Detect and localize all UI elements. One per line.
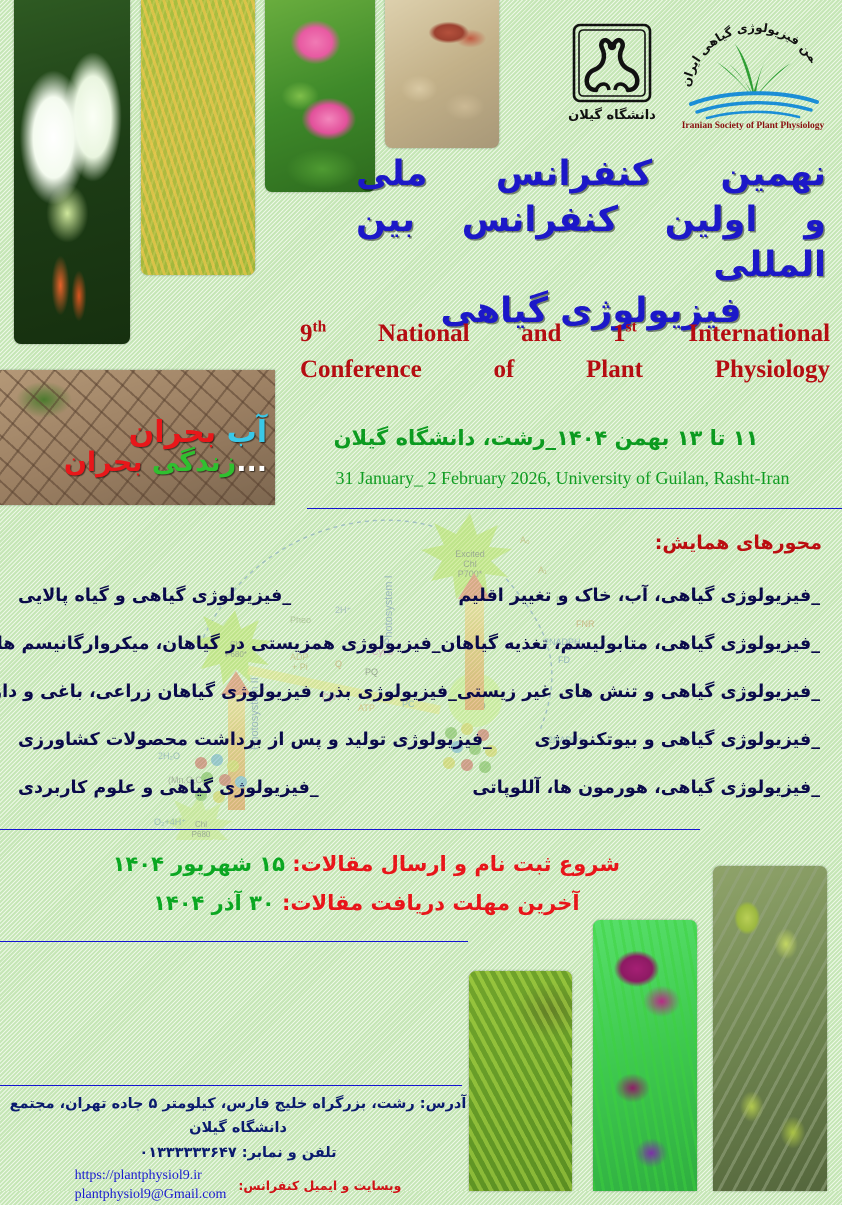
university-of-guilan-logo: دانشگاه گیلان <box>566 22 658 132</box>
divider-topics-bottom <box>0 829 700 830</box>
svg-text:A₁: A₁ <box>538 565 547 575</box>
svg-text:Excited: Excited <box>455 549 485 559</box>
title-en-sup-th: th <box>313 319 327 336</box>
deadline-submission-label: آخرین مهلت دریافت مقالات: <box>282 891 580 915</box>
title-fa-line2: و اولین کنفرانس بین المللی <box>356 198 826 289</box>
deadline-registration: شروع ثبت نام و ارسال مقالات: ۱۵ شهریور ۱… <box>113 845 620 884</box>
contact-email-link[interactable]: plantphysiol9@Gmail.com <box>75 1186 227 1205</box>
deadline-submission: آخرین مهلت دریافت مقالات: ۳۰ آذر ۱۴۰۴ <box>113 884 620 923</box>
svg-text:A₀: A₀ <box>520 535 530 545</box>
drought-line2-crisis: بحران <box>64 447 143 478</box>
topic-row: _فیزیولوژی گیاهی و بیوتکنولوژی _فیزیولوژ… <box>0 730 842 778</box>
svg-text:Iranian Society of Plant Physi: Iranian Society of Plant Physiology <box>682 121 825 130</box>
photo-rice <box>141 0 255 275</box>
topic-item: _فیزیولوژی تولید و پس از برداشت محصولات … <box>0 730 492 750</box>
deadlines-block: شروع ثبت نام و ارسال مقالات: ۱۵ شهریور ۱… <box>113 845 620 923</box>
topic-row: _فیزیولوژی گیاهی، متابولیسم، تغذیه گیاها… <box>0 634 842 682</box>
topic-item: _فیزیولوژی گیاهی و علوم کاربردی <box>0 778 319 798</box>
topic-row: _فیزیولوژی گیاهی و تنش های غیر زیستی _فی… <box>0 682 842 730</box>
svg-text:P680: P680 <box>192 830 211 839</box>
svg-text:دانشگاه گیلان: دانشگاه گیلان <box>568 107 656 123</box>
title-en-sup-st: st <box>626 319 637 336</box>
topic-item: _فیزیولوژی گیاهی و بیوتکنولوژی <box>534 730 842 750</box>
deadline-registration-label: شروع ثبت نام و ارسال مقالات: <box>292 852 620 876</box>
iranian-society-of-plant-physiology-logo: انجمن فیزیولوژی گیاهی ایران Iranian Soci… <box>673 22 833 130</box>
divider-top <box>307 508 842 509</box>
topics-list: _فیزیولوژی گیاهی، آب، خاک و تغییر اقلیم … <box>0 586 842 826</box>
svg-text:انجمن فیزیولوژی گیاهی ایران: انجمن فیزیولوژی گیاهی ایران <box>673 22 821 88</box>
contact-website-link[interactable]: https://plantphysiol9.ir <box>75 1167 227 1186</box>
photo-drought-cracked-soil: آب بحران ...زندگی بحران <box>0 370 275 505</box>
deadline-registration-value: ۱۵ شهریور ۱۴۰۴ <box>113 852 285 876</box>
topic-item: _فیزیولوژی گیاهی، آب، خاک و تغییر اقلیم <box>458 586 842 606</box>
photo-tea-leaves <box>469 971 572 1191</box>
contact-links: https://plantphysiol9.ir plantphysiol9@G… <box>75 1167 227 1205</box>
topic-item: _فیزیولوژی بذر، فیزیولوژی گیاهان زراعی، … <box>0 682 457 702</box>
topic-item: _فیزیولوژی همزیستی در گیاهان، میکروارگان… <box>0 634 441 654</box>
drought-line2-dots: ... <box>236 447 267 478</box>
conference-date-en: 31 January_ 2 February 2026, University … <box>290 468 835 489</box>
drought-line1-crisis: بحران <box>129 415 216 450</box>
contact-block: آدرس: رشت، بزرگراه خلیج فارس، کیلومتر ۵ … <box>8 1092 468 1205</box>
deadline-submission-value: ۳۰ آذر ۱۴۰۴ <box>153 891 275 915</box>
topic-item: _فیزیولوژی گیاهی، متابولیسم، تغذیه گیاها… <box>441 634 842 654</box>
title-en-ordinal-9: 9 <box>300 320 313 347</box>
topics-heading: محورهای همایش: <box>655 532 822 554</box>
drought-overlay-text: آب بحران ...زندگی بحران <box>64 418 267 476</box>
topic-row: _فیزیولوژی گیاهی، هورمون ها، آللوپاتی _ف… <box>0 778 842 826</box>
topic-item: _فیزیولوژی گیاهی، هورمون ها، آللوپاتی <box>472 778 842 798</box>
divider-deadlines-bottom <box>0 941 468 942</box>
conference-date-fa: ۱۱ تا ۱۳ بهمن ۱۴۰۴_رشت، دانشگاه گیلان <box>266 426 826 450</box>
topic-row: _فیزیولوژی گیاهی، آب، خاک و تغییر اقلیم … <box>0 586 842 634</box>
drought-line1-water: آب <box>227 415 267 450</box>
conference-title-en: 9th National and 1st International Confe… <box>300 316 830 387</box>
title-en-national-and-1: National and 1 <box>378 320 626 347</box>
contact-address: آدرس: رشت، بزرگراه خلیج فارس، کیلومتر ۵ … <box>8 1092 468 1141</box>
contact-web-label: وبسایت و ایمیل کنفرانس: <box>238 1178 401 1193</box>
photo-lily <box>14 0 130 344</box>
divider-footer-top <box>0 1085 462 1086</box>
conference-title-fa: نهمین کنفرانس ملی و اولین کنفرانس بین ال… <box>356 152 826 334</box>
photo-purple-flowers <box>593 920 697 1191</box>
title-fa-line1: نهمین کنفرانس ملی <box>356 152 826 198</box>
title-en-line1: 9th National and 1st International <box>300 316 830 352</box>
contact-web-row: وبسایت و ایمیل کنفرانس: https://plantphy… <box>8 1167 468 1205</box>
drought-line2-life: زندگی <box>152 447 236 478</box>
svg-text:P700*: P700* <box>458 569 483 579</box>
contact-phone: تلفن و نمابر: ۰۱۳۳۳۳۳۳۶۴۷ <box>8 1141 468 1165</box>
title-en-international: International <box>688 320 830 347</box>
topic-item: _فیزیولوژی گیاهی و تنش های غیر زیستی <box>457 682 842 702</box>
conference-poster: Excited Chl P700* Chl P680* Chl P680 Chl… <box>0 0 842 1191</box>
title-en-line2: Conference of Plant Physiology <box>300 352 830 388</box>
topic-item: _فیزیولوژی گیاهی و گیاه پالایی <box>0 586 291 606</box>
photo-olives <box>713 866 827 1191</box>
svg-text:Chl: Chl <box>463 559 477 569</box>
photo-peanut <box>385 0 499 148</box>
